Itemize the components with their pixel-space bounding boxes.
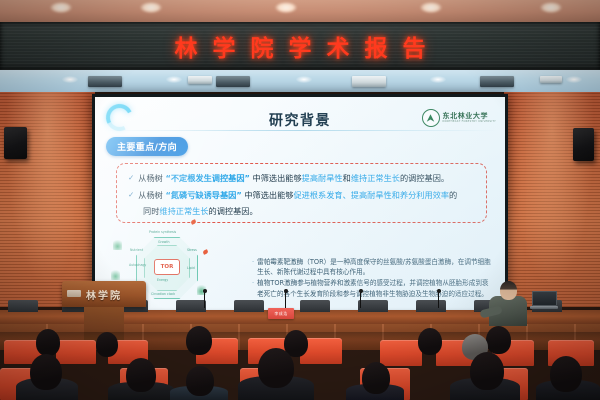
soffit-light: [430, 76, 446, 83]
led-banner: 林学院学术报告: [0, 22, 600, 70]
bullet-text: 从杨树 “氮磷亏缺诱导基因” 中筛选出能够促进根系发育、提高耐旱性和养分利用效率…: [138, 190, 457, 202]
chair-back: [234, 300, 264, 312]
wall-glow: [504, 92, 600, 307]
laptop-keyboard: [530, 306, 558, 309]
audience-head: [258, 348, 294, 388]
logo-english-name: NORTHEAST FORESTRY UNIVERSITY: [443, 121, 497, 124]
soffit-light: [296, 76, 312, 83]
chair-back: [416, 300, 446, 312]
bullet-text: 从杨树 “不定根发生调控基因” 中筛选出能够提高耐旱性和维持正常生长的调控基因。: [138, 173, 449, 185]
wall-speaker: [4, 127, 27, 159]
microphone: [360, 292, 361, 308]
bullet-item: ✓ 从杨树 “不定根发生调控基因” 中筛选出能够提高耐旱性和维持正常生长的调控基…: [128, 173, 449, 185]
audience-head: [126, 358, 156, 392]
ceiling-light: [275, 2, 297, 13]
chair-back: [8, 300, 38, 312]
left-wood-wall: [0, 92, 95, 307]
check-icon: ✓: [128, 190, 134, 202]
ceiling-vent: [188, 76, 212, 84]
soffit-light: [166, 76, 182, 83]
diagram-label: Protein synthesis: [149, 230, 176, 234]
led-banner-text: 林学院学术报告: [0, 29, 600, 63]
university-emblem-icon: [422, 109, 440, 127]
body-point-text: 雷帕霉素靶激酶（TOR）是一种高度保守的丝氨酸/苏氨酸蛋白激酶，在调节细胞生长、…: [257, 257, 495, 277]
ceiling-light: [420, 2, 442, 13]
body-point-text: 植物TOR激酶参与植物营养和激素信号的感受过程，并调控植物从胚胎形成到衰老死亡的…: [257, 278, 495, 298]
audience-head: [362, 362, 390, 394]
chair-back: [300, 300, 330, 312]
bullet-text-continued: 同时维持正常生长的调控基因。: [143, 206, 258, 218]
body-point: · 植物TOR激酶参与植物营养和激素信号的感受过程，并调控植物从胚胎形成到衰老死…: [252, 278, 495, 298]
laptop-screen: [532, 291, 557, 306]
lecture-hall-photo: 林学院学术报告 研究背景 东北林业大学 NORT: [0, 0, 600, 400]
audience-head: [186, 326, 212, 355]
podium-top: 林学院: [62, 281, 146, 307]
chair-back: [358, 300, 388, 312]
ceiling-vent: [88, 76, 122, 87]
ceiling-vent: [216, 76, 250, 87]
audience-head: [96, 332, 118, 357]
audience-head: [470, 352, 504, 390]
laptop: [530, 291, 558, 309]
diagram-center-label: TOR: [154, 259, 180, 275]
bullet-item: ✓ 从杨树 “氮磷亏缺诱导基因” 中筛选出能够促进根系发育、提高耐旱性和养分利用…: [128, 190, 457, 202]
audience-head: [30, 354, 62, 390]
bullet-dot-icon: ·: [252, 278, 254, 298]
diagram-label: Autophagy: [129, 263, 146, 267]
soffit-wall: [0, 70, 600, 92]
plant-sprout-icon: [111, 268, 120, 280]
microphone: [204, 292, 205, 308]
chair-back: [176, 300, 206, 312]
leaf-accent-icon: [190, 219, 196, 225]
check-icon: ✓: [128, 173, 134, 185]
name-card-text: 李成浩: [268, 308, 294, 319]
key-points-box: ✓ 从杨树 “不定根发生调控基因” 中筛选出能够提高耐旱性和维持正常生长的调控基…: [116, 163, 487, 223]
leaf-accent-icon: [202, 249, 208, 255]
ceiling-light: [50, 2, 72, 13]
presentation-slide: 研究背景 东北林业大学 NORTHEAST FORESTRY UNIVERSIT…: [95, 97, 505, 315]
ceiling-light: [540, 2, 562, 13]
soffit-light: [62, 76, 78, 83]
podium-label: 林学院: [62, 287, 146, 302]
wall-glow: [0, 92, 95, 307]
microphone: [438, 292, 439, 308]
section-pill: 主要重点/方向: [106, 137, 188, 156]
auditorium-seat: [56, 340, 96, 364]
soffit-light: [566, 76, 582, 83]
ceiling-light: [140, 2, 162, 13]
bullet-dot-icon: ·: [252, 257, 254, 277]
ceiling-vent: [352, 76, 386, 87]
diagram-label: Energy: [157, 278, 168, 282]
projection-screen: 研究背景 东北林业大学 NORTHEAST FORESTRY UNIVERSIT…: [92, 94, 508, 318]
diagram-label: Stress: [187, 248, 197, 252]
audience-head: [36, 329, 60, 356]
speaker-name-card: 李成浩: [268, 308, 294, 319]
slide-body-text: · 雷帕霉素靶激酶（TOR）是一种高度保守的丝氨酸/苏氨酸蛋白激酶，在调节细胞生…: [252, 257, 495, 300]
diagram-label: Growth: [158, 240, 170, 244]
plant-sprout-icon: [113, 238, 122, 250]
diagram-label: Nutrient: [130, 248, 143, 252]
audience-head: [418, 328, 442, 355]
audience-head: [486, 326, 511, 354]
diagram-label: Circadian clock: [151, 292, 175, 296]
ceiling-vent: [480, 76, 514, 87]
right-wood-wall: [504, 92, 600, 307]
speaker-person-head: [500, 281, 517, 300]
audience-head: [550, 356, 582, 392]
university-logo: 东北林业大学 NORTHEAST FORESTRY UNIVERSITY: [422, 109, 497, 127]
header-divider: [103, 130, 497, 131]
audience-head: [186, 366, 214, 396]
wall-speaker: [573, 128, 594, 161]
microphone: [285, 292, 286, 308]
ceiling-vent: [540, 76, 562, 83]
auditorium-seat: [380, 340, 422, 366]
logo-chinese-name: 东北林业大学: [443, 113, 497, 120]
body-point: · 雷帕霉素靶激酶（TOR）是一种高度保守的丝氨酸/苏氨酸蛋白激酶，在调节细胞生…: [252, 257, 495, 277]
diagram-label: Lipid: [187, 266, 195, 270]
